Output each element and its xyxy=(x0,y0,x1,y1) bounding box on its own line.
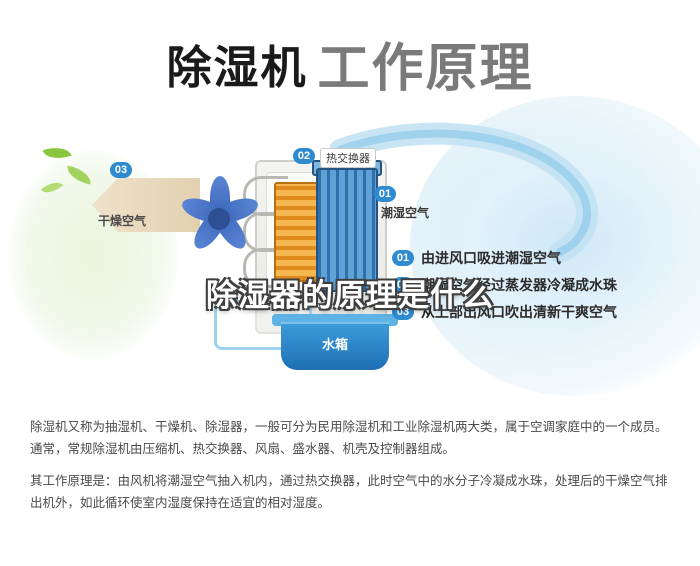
condenser-coil xyxy=(274,182,318,282)
badge-01: 01 xyxy=(374,186,396,202)
overlay-headline: 除湿器的原理是什么 xyxy=(0,270,700,315)
article-paragraph-1: 除湿机又称为抽湿机、干燥机、除湿器，一般可分为民用除湿机和工业除湿机两大类，属于… xyxy=(30,416,674,460)
step-number: 01 xyxy=(392,250,414,266)
badge-02: 02 xyxy=(293,148,315,164)
infographic-panel: 除湿机工作原理 03 干燥空气 水箱 xyxy=(0,0,700,404)
humid-air-callout: 潮湿空气 xyxy=(381,204,429,221)
article-body: 除湿机又称为抽湿机、干燥机、除湿器，一般可分为民用除湿机和工业除湿机两大类，属于… xyxy=(30,416,674,524)
heat-exchanger-callout: 热交换器 xyxy=(320,148,376,168)
fan-icon xyxy=(170,170,266,266)
water-tank-label: 水箱 xyxy=(281,334,389,353)
infographic-title: 除湿机工作原理 xyxy=(0,26,700,101)
badge-left-03: 03 xyxy=(110,162,132,178)
article-paragraph-2: 其工作原理是：由风机将潮湿空气抽入机内，通过热交换器，此时空气中的水分子冷凝成水… xyxy=(30,470,674,514)
title-secondary: 工作原理 xyxy=(318,40,534,98)
fan-hub xyxy=(208,208,230,230)
title-primary: 除湿机 xyxy=(166,42,307,93)
dry-air-label: 干燥空气 xyxy=(98,212,146,229)
step-text: 由进风口吸进潮湿空气 xyxy=(421,248,561,268)
page-root: 除湿机工作原理 03 干燥空气 水箱 xyxy=(0,0,700,566)
